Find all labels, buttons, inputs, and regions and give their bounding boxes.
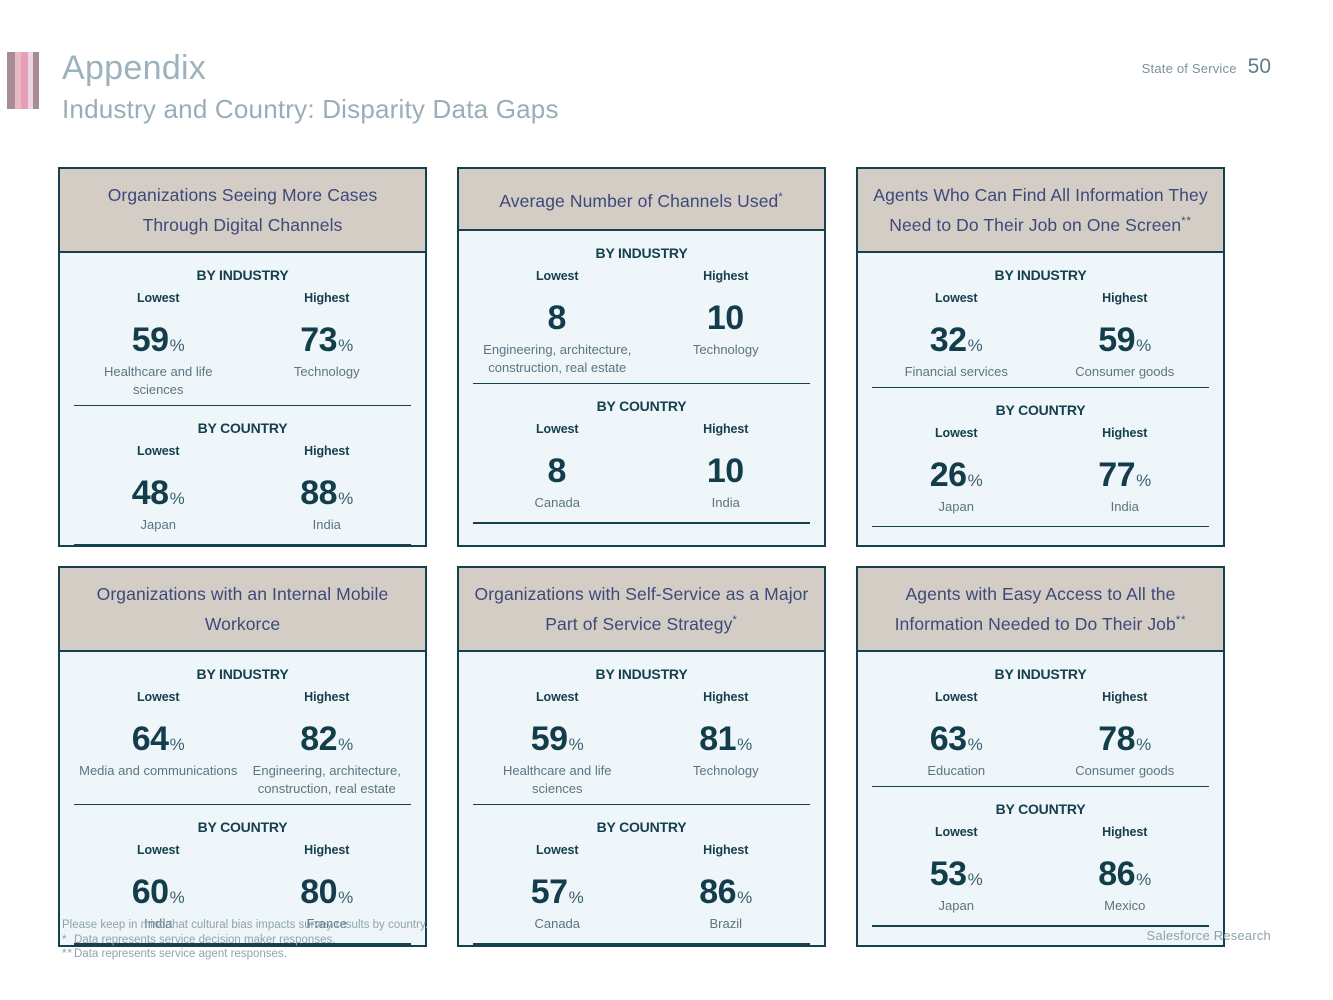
footnote-item: ** Data represents service agent respons… bbox=[62, 947, 428, 962]
stat-caption: Japan bbox=[78, 516, 239, 534]
stat-section-industry: BY INDUSTRY Lowest 64 % Media and commun… bbox=[74, 652, 411, 804]
stat-column-lowest: Lowest 26 % Japan bbox=[872, 426, 1041, 516]
stat-card: Organizations with Self-Service as a Maj… bbox=[457, 566, 826, 946]
stat-card-header: Organizations Seeing More Cases Through … bbox=[60, 169, 425, 253]
stat-caption: Financial services bbox=[876, 363, 1037, 381]
column-label-lowest: Lowest bbox=[78, 444, 239, 458]
bottom-rule bbox=[872, 526, 1209, 528]
stat-caption: Canada bbox=[477, 915, 638, 933]
column-label-lowest: Lowest bbox=[477, 422, 638, 436]
stat-value: 63 bbox=[930, 722, 967, 756]
title-block: Appendix Industry and Country: Disparity… bbox=[62, 48, 559, 126]
stat-highest: 82 % bbox=[247, 722, 408, 756]
stat-lowest: 53 % bbox=[876, 857, 1037, 891]
stat-card-header: Agents with Easy Access to All the Infor… bbox=[858, 568, 1223, 652]
stat-section-industry: BY INDUSTRY Lowest 32 % Financial servic… bbox=[872, 253, 1209, 387]
stat-lowest: 8 bbox=[477, 301, 638, 335]
stat-unit: % bbox=[1136, 871, 1151, 888]
stat-card-body: BY INDUSTRY Lowest 64 % Media and commun… bbox=[60, 652, 425, 945]
stat-unit: % bbox=[1136, 736, 1151, 753]
stat-card: Agents Who Can Find All Information They… bbox=[856, 167, 1225, 547]
footnotes: Please keep in mind that cultural bias i… bbox=[62, 918, 428, 962]
page-title: Appendix bbox=[62, 48, 559, 88]
stat-column-lowest: Lowest 57 % Canada bbox=[473, 843, 642, 933]
stat-column-highest: Highest 77 % India bbox=[1041, 426, 1210, 516]
footnote-text: Data represents service decision maker r… bbox=[74, 933, 335, 948]
stat-pair: Lowest 8 Canada Highest 10 India bbox=[473, 422, 810, 512]
stat-pair: Lowest 59 % Healthcare and life sciences… bbox=[473, 690, 810, 798]
stat-caption: Brazil bbox=[646, 915, 807, 933]
column-label-highest: Highest bbox=[1045, 291, 1206, 305]
stat-lowest: 59 % bbox=[78, 323, 239, 357]
stat-card-title: Organizations with an Internal Mobile Wo… bbox=[74, 581, 411, 637]
stat-value: 81 bbox=[699, 722, 736, 756]
stat-column-highest: Highest 59 % Consumer goods bbox=[1041, 291, 1210, 381]
stat-value: 10 bbox=[707, 301, 744, 335]
header-meta: State of Service 50 bbox=[1142, 55, 1271, 79]
stat-value: 32 bbox=[930, 323, 967, 357]
stat-caption: Engineering, architecture, construction,… bbox=[477, 341, 638, 377]
stat-pair: Lowest 26 % Japan Highest 77 % India bbox=[872, 426, 1209, 516]
stat-value: 8 bbox=[548, 301, 566, 335]
section-label: BY INDUSTRY bbox=[872, 267, 1209, 283]
stat-section-country: BY COUNTRY Lowest 8 Canada Highest 10 bbox=[473, 383, 810, 518]
stat-column-highest: Highest 88 % India bbox=[243, 444, 412, 534]
stat-value: 86 bbox=[699, 875, 736, 909]
stat-section-country: BY COUNTRY Lowest 26 % Japan Highest 77 … bbox=[872, 387, 1209, 522]
column-label-highest: Highest bbox=[1045, 690, 1206, 704]
section-label: BY COUNTRY bbox=[74, 819, 411, 835]
section-label: BY COUNTRY bbox=[473, 398, 810, 414]
stat-card-title-text: Average Number of Channels Used bbox=[499, 191, 778, 211]
stat-highest: 10 bbox=[646, 301, 807, 335]
stat-card-body: BY INDUSTRY Lowest 8 Engineering, archit… bbox=[459, 231, 824, 545]
column-label-lowest: Lowest bbox=[477, 690, 638, 704]
stat-pair: Lowest 32 % Financial services Highest 5… bbox=[872, 291, 1209, 381]
stat-value: 59 bbox=[132, 323, 169, 357]
bottom-rule bbox=[74, 544, 411, 546]
stat-highest: 10 bbox=[646, 454, 807, 488]
column-label-lowest: Lowest bbox=[876, 291, 1037, 305]
footnote-intro-text: Please keep in mind that cultural bias i… bbox=[62, 918, 428, 933]
bottom-rule bbox=[473, 522, 810, 524]
stat-card-header: Agents Who Can Find All Information They… bbox=[858, 169, 1223, 253]
stat-card-header: Organizations with an Internal Mobile Wo… bbox=[60, 568, 425, 652]
stat-column-highest: Highest 10 India bbox=[642, 422, 811, 512]
stat-unit: % bbox=[338, 337, 353, 354]
stat-card-footnote-mark: ** bbox=[1176, 614, 1187, 626]
column-label-highest: Highest bbox=[247, 690, 408, 704]
stat-caption: India bbox=[1045, 498, 1206, 516]
stat-card-title-text: Agents Who Can Find All Information They… bbox=[873, 185, 1207, 235]
stat-column-highest: Highest 82 % Engineering, architecture, … bbox=[243, 690, 412, 798]
stat-card-footnote-mark: ** bbox=[1181, 215, 1192, 227]
stat-caption: India bbox=[247, 516, 408, 534]
stat-caption: Japan bbox=[876, 897, 1037, 915]
column-label-lowest: Lowest bbox=[477, 269, 638, 283]
stat-pair: Lowest 64 % Media and communications Hig… bbox=[74, 690, 411, 798]
stat-unit: % bbox=[968, 337, 983, 354]
stat-value: 57 bbox=[531, 875, 568, 909]
report-label: State of Service bbox=[1142, 61, 1237, 76]
stat-value: 88 bbox=[300, 476, 337, 510]
section-label: BY COUNTRY bbox=[74, 420, 411, 436]
stat-card-title-text: Organizations Seeing More Cases Through … bbox=[108, 185, 378, 235]
stat-card: Average Number of Channels Used* BY INDU… bbox=[457, 167, 826, 547]
stat-value: 48 bbox=[132, 476, 169, 510]
column-label-highest: Highest bbox=[646, 422, 807, 436]
stat-highest: 81 % bbox=[646, 722, 807, 756]
stat-card-title: Organizations with Self-Service as a Maj… bbox=[473, 581, 810, 637]
stat-highest: 73 % bbox=[247, 323, 408, 357]
stat-column-lowest: Lowest 59 % Healthcare and life sciences bbox=[74, 291, 243, 399]
stat-highest: 86 % bbox=[646, 875, 807, 909]
stat-card-title: Average Number of Channels Used* bbox=[499, 184, 783, 214]
stat-lowest: 59 % bbox=[477, 722, 638, 756]
stat-column-highest: Highest 10 Technology bbox=[642, 269, 811, 377]
stat-value: 60 bbox=[132, 875, 169, 909]
section-label: BY COUNTRY bbox=[473, 819, 810, 835]
stat-section-industry: BY INDUSTRY Lowest 59 % Healthcare and l… bbox=[473, 652, 810, 804]
stat-column-lowest: Lowest 48 % Japan bbox=[74, 444, 243, 534]
stat-lowest: 63 % bbox=[876, 722, 1037, 756]
stat-caption: Healthcare and life sciences bbox=[477, 762, 638, 798]
decorative-accent-bar bbox=[7, 52, 39, 109]
stat-section-industry: BY INDUSTRY Lowest 63 % Education Highes… bbox=[872, 652, 1209, 786]
stat-unit: % bbox=[338, 889, 353, 906]
stat-card-title: Agents Who Can Find All Information They… bbox=[872, 182, 1209, 238]
stat-card-title-text: Agents with Easy Access to All the Infor… bbox=[895, 584, 1176, 634]
stat-unit: % bbox=[737, 889, 752, 906]
stat-section-country: BY COUNTRY Lowest 48 % Japan Highest 88 … bbox=[74, 405, 411, 540]
footnote-mark: ** bbox=[62, 947, 74, 962]
stat-column-highest: Highest 81 % Technology bbox=[642, 690, 811, 798]
stat-pair: Lowest 8 Engineering, architecture, cons… bbox=[473, 269, 810, 377]
stat-value: 10 bbox=[707, 454, 744, 488]
stat-caption: Consumer goods bbox=[1045, 363, 1206, 381]
footnote-text: Data represents service agent responses. bbox=[74, 947, 287, 962]
stat-value: 78 bbox=[1098, 722, 1135, 756]
column-label-lowest: Lowest bbox=[876, 690, 1037, 704]
stat-card-grid: Organizations Seeing More Cases Through … bbox=[58, 167, 1234, 947]
stat-unit: % bbox=[338, 736, 353, 753]
stat-value: 8 bbox=[548, 454, 566, 488]
bottom-rule bbox=[872, 925, 1209, 927]
stat-section-industry: BY INDUSTRY Lowest 59 % Healthcare and l… bbox=[74, 253, 411, 405]
section-label: BY COUNTRY bbox=[872, 402, 1209, 418]
stat-column-highest: Highest 78 % Consumer goods bbox=[1041, 690, 1210, 780]
column-label-highest: Highest bbox=[247, 843, 408, 857]
stat-highest: 80 % bbox=[247, 875, 408, 909]
stat-caption: India bbox=[646, 494, 807, 512]
column-label-lowest: Lowest bbox=[78, 291, 239, 305]
stat-highest: 88 % bbox=[247, 476, 408, 510]
stat-column-lowest: Lowest 8 Canada bbox=[473, 422, 642, 512]
stat-section-country: BY COUNTRY Lowest 53 % Japan Highest 86 … bbox=[872, 786, 1209, 921]
stat-caption: Media and communications bbox=[78, 762, 239, 780]
section-label: BY INDUSTRY bbox=[74, 666, 411, 682]
stat-card-body: BY INDUSTRY Lowest 59 % Healthcare and l… bbox=[60, 253, 425, 546]
stat-unit: % bbox=[1136, 472, 1151, 489]
stat-card-body: BY INDUSTRY Lowest 63 % Education Highes… bbox=[858, 652, 1223, 945]
stat-card: Agents with Easy Access to All the Infor… bbox=[856, 566, 1225, 946]
page-number: 50 bbox=[1248, 55, 1271, 79]
stat-card-title: Agents with Easy Access to All the Infor… bbox=[872, 581, 1209, 637]
stat-caption: Technology bbox=[247, 363, 408, 381]
accent-stripe-1 bbox=[7, 52, 15, 109]
stat-caption: Healthcare and life sciences bbox=[78, 363, 239, 399]
bottom-rule bbox=[473, 943, 810, 945]
stat-unit: % bbox=[737, 736, 752, 753]
stat-column-lowest: Lowest 53 % Japan bbox=[872, 825, 1041, 915]
stat-highest: 59 % bbox=[1045, 323, 1206, 357]
stat-card-title-text: Organizations with an Internal Mobile Wo… bbox=[97, 584, 389, 634]
stat-highest: 86 % bbox=[1045, 857, 1206, 891]
stat-highest: 78 % bbox=[1045, 722, 1206, 756]
stat-card-title-text: Organizations with Self-Service as a Maj… bbox=[475, 584, 809, 634]
stat-caption: Mexico bbox=[1045, 897, 1206, 915]
stat-card: Organizations with an Internal Mobile Wo… bbox=[58, 566, 427, 946]
column-label-lowest: Lowest bbox=[477, 843, 638, 857]
stat-column-lowest: Lowest 8 Engineering, architecture, cons… bbox=[473, 269, 642, 377]
column-label-highest: Highest bbox=[247, 291, 408, 305]
research-credit: Salesforce Research bbox=[1147, 928, 1271, 943]
stat-value: 53 bbox=[930, 857, 967, 891]
section-label: BY INDUSTRY bbox=[74, 267, 411, 283]
stat-unit: % bbox=[968, 472, 983, 489]
appendix-page: Appendix Industry and Country: Disparity… bbox=[0, 0, 1333, 1000]
stat-caption: Technology bbox=[646, 762, 807, 780]
stat-value: 77 bbox=[1098, 458, 1135, 492]
stat-unit: % bbox=[170, 337, 185, 354]
stat-value: 59 bbox=[1098, 323, 1135, 357]
stat-caption: Canada bbox=[477, 494, 638, 512]
stat-highest: 77 % bbox=[1045, 458, 1206, 492]
stat-column-lowest: Lowest 59 % Healthcare and life sciences bbox=[473, 690, 642, 798]
column-label-highest: Highest bbox=[247, 444, 408, 458]
column-label-highest: Highest bbox=[646, 690, 807, 704]
stat-caption: Consumer goods bbox=[1045, 762, 1206, 780]
column-label-lowest: Lowest bbox=[78, 843, 239, 857]
stat-lowest: 64 % bbox=[78, 722, 239, 756]
stat-column-highest: Highest 86 % Mexico bbox=[1041, 825, 1210, 915]
column-label-highest: Highest bbox=[1045, 426, 1206, 440]
stat-unit: % bbox=[170, 490, 185, 507]
accent-stripe-5 bbox=[33, 52, 39, 109]
column-label-highest: Highest bbox=[646, 269, 807, 283]
stat-card: Organizations Seeing More Cases Through … bbox=[58, 167, 427, 547]
stat-pair: Lowest 63 % Education Highest 78 % Consu… bbox=[872, 690, 1209, 780]
stat-unit: % bbox=[170, 889, 185, 906]
column-label-lowest: Lowest bbox=[876, 426, 1037, 440]
stat-card-footnote-mark: * bbox=[732, 614, 737, 626]
stat-value: 73 bbox=[300, 323, 337, 357]
stat-card-body: BY INDUSTRY Lowest 32 % Financial servic… bbox=[858, 253, 1223, 546]
stat-unit: % bbox=[338, 490, 353, 507]
stat-column-lowest: Lowest 63 % Education bbox=[872, 690, 1041, 780]
stat-card-title: Organizations Seeing More Cases Through … bbox=[74, 182, 411, 238]
stat-pair: Lowest 53 % Japan Highest 86 % Mexico bbox=[872, 825, 1209, 915]
stat-caption: Education bbox=[876, 762, 1037, 780]
column-label-highest: Highest bbox=[1045, 825, 1206, 839]
stat-caption: Technology bbox=[646, 341, 807, 359]
stat-card-body: BY INDUSTRY Lowest 59 % Healthcare and l… bbox=[459, 652, 824, 945]
footnote-mark: * bbox=[62, 933, 74, 948]
stat-pair: Lowest 59 % Healthcare and life sciences… bbox=[74, 291, 411, 399]
stat-lowest: 57 % bbox=[477, 875, 638, 909]
stat-lowest: 32 % bbox=[876, 323, 1037, 357]
stat-pair: Lowest 48 % Japan Highest 88 % India bbox=[74, 444, 411, 534]
stat-value: 80 bbox=[300, 875, 337, 909]
stat-value: 26 bbox=[930, 458, 967, 492]
stat-value: 59 bbox=[531, 722, 568, 756]
stat-column-lowest: Lowest 32 % Financial services bbox=[872, 291, 1041, 381]
stat-lowest: 48 % bbox=[78, 476, 239, 510]
stat-column-lowest: Lowest 64 % Media and communications bbox=[74, 690, 243, 798]
stat-card-footnote-mark: * bbox=[778, 191, 783, 203]
stat-section-country: BY COUNTRY Lowest 57 % Canada Highest 86… bbox=[473, 804, 810, 939]
stat-column-highest: Highest 73 % Technology bbox=[243, 291, 412, 399]
stat-caption: Japan bbox=[876, 498, 1037, 516]
stat-unit: % bbox=[1136, 337, 1151, 354]
section-label: BY INDUSTRY bbox=[872, 666, 1209, 682]
column-label-lowest: Lowest bbox=[78, 690, 239, 704]
stat-caption: Engineering, architecture, construction,… bbox=[247, 762, 408, 798]
stat-unit: % bbox=[569, 736, 584, 753]
stat-card-header: Average Number of Channels Used* bbox=[459, 169, 824, 231]
page-subtitle: Industry and Country: Disparity Data Gap… bbox=[62, 92, 559, 126]
stat-unit: % bbox=[170, 736, 185, 753]
stat-unit: % bbox=[968, 871, 983, 888]
stat-card-header: Organizations with Self-Service as a Maj… bbox=[459, 568, 824, 652]
footnote-intro: Please keep in mind that cultural bias i… bbox=[62, 918, 428, 933]
stat-value: 86 bbox=[1098, 857, 1135, 891]
stat-value: 64 bbox=[132, 722, 169, 756]
accent-stripe-3 bbox=[21, 52, 28, 109]
section-label: BY INDUSTRY bbox=[473, 666, 810, 682]
stat-lowest: 8 bbox=[477, 454, 638, 488]
stat-section-industry: BY INDUSTRY Lowest 8 Engineering, archit… bbox=[473, 231, 810, 383]
stat-lowest: 26 % bbox=[876, 458, 1037, 492]
stat-column-highest: Highest 86 % Brazil bbox=[642, 843, 811, 933]
stat-unit: % bbox=[968, 736, 983, 753]
stat-pair: Lowest 57 % Canada Highest 86 % Brazil bbox=[473, 843, 810, 933]
stat-value: 82 bbox=[300, 722, 337, 756]
footnote-item: * Data represents service decision maker… bbox=[62, 933, 428, 948]
stat-lowest: 60 % bbox=[78, 875, 239, 909]
section-label: BY INDUSTRY bbox=[473, 245, 810, 261]
stat-unit: % bbox=[569, 889, 584, 906]
section-label: BY COUNTRY bbox=[872, 801, 1209, 817]
column-label-lowest: Lowest bbox=[876, 825, 1037, 839]
column-label-highest: Highest bbox=[646, 843, 807, 857]
